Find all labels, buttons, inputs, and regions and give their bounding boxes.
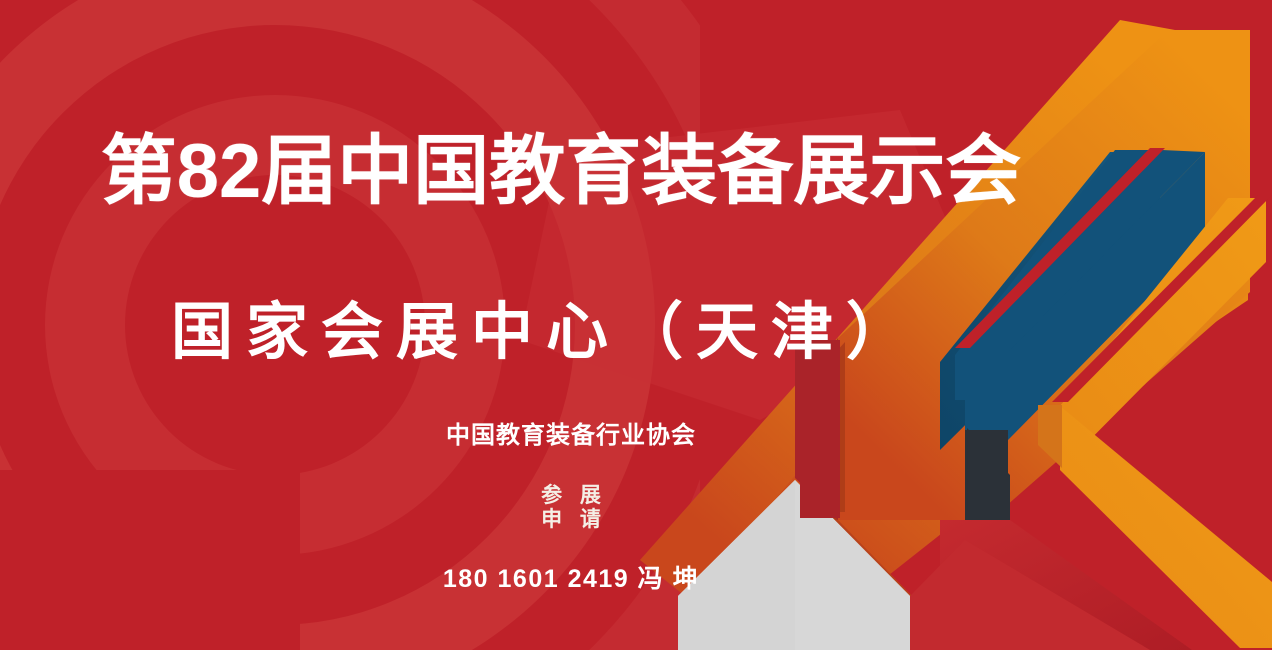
contact-phone-and-name[interactable]: 180 1601 2419 冯 坤 — [0, 567, 1272, 592]
apply-line-1: 参 展 — [0, 484, 1142, 508]
page-title: 第82届中国教育装备展示会 — [0, 134, 1272, 210]
apply-line-2: 申 请 — [0, 508, 1142, 532]
banner-text-layer: 第82届中国教育装备展示会 国家会展中心（天津） 中国教育装备行业协会 参 展 … — [0, 0, 1272, 650]
venue-title: 国家会展中心（天津） — [0, 302, 1272, 364]
organizer-label: 中国教育装备行业协会 — [0, 424, 1272, 448]
exhibition-banner: 第82届中国教育装备展示会 国家会展中心（天津） 中国教育装备行业协会 参 展 … — [0, 0, 1272, 650]
apply-cta[interactable]: 参 展 申 请 — [0, 484, 1272, 532]
